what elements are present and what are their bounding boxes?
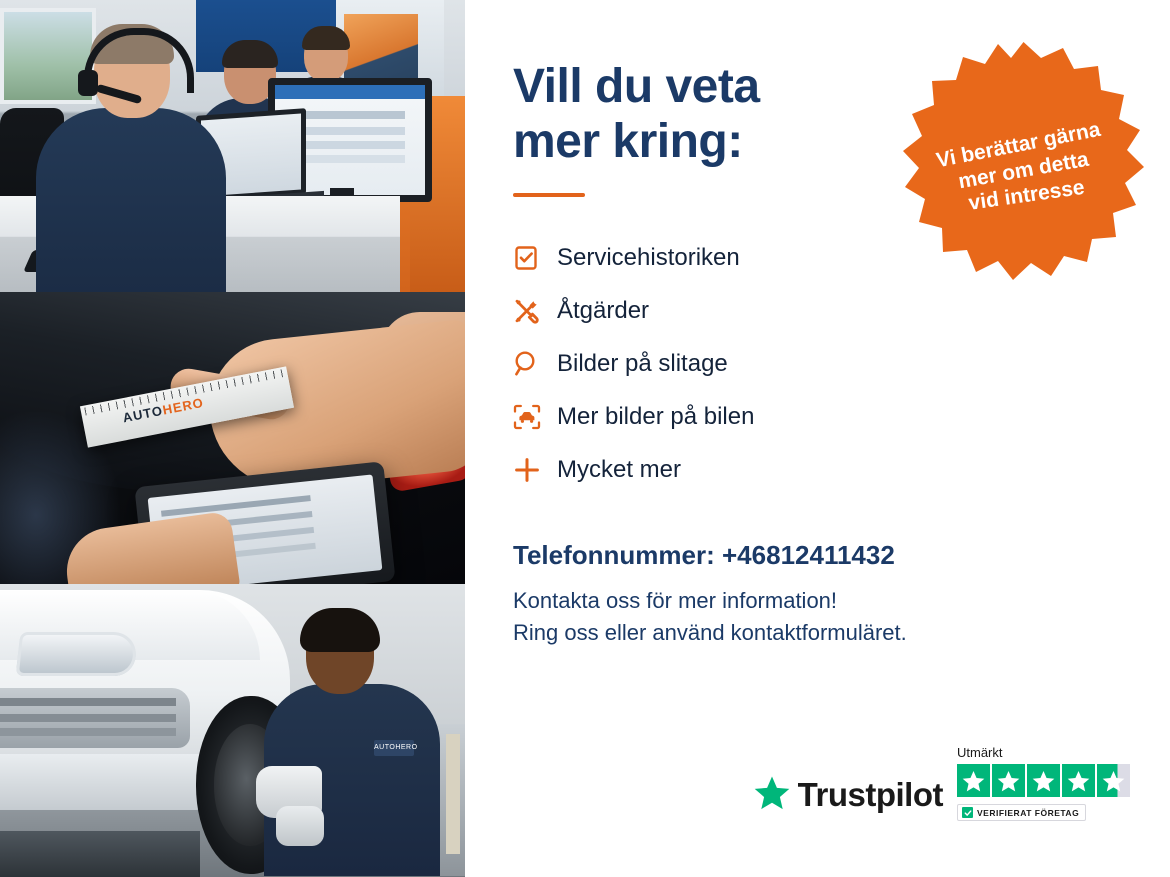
trustpilot-widget[interactable]: Trustpilot Utmärkt: [754, 745, 1130, 821]
list-item: Åtgärder: [513, 284, 1122, 337]
contact-text-line-1: Kontakta oss för mer information!: [513, 588, 837, 613]
feature-label: Servicehistoriken: [557, 244, 740, 272]
feature-label: Mycket mer: [557, 456, 681, 484]
verified-label: VERIFIERAT FÖRETAG: [977, 808, 1079, 818]
trustpilot-wordmark: Trustpilot: [798, 776, 943, 814]
magnifier-icon: [513, 350, 557, 377]
car-scan-icon: [513, 404, 557, 430]
photo-inspection-ruler: AUTOHERO: [0, 292, 465, 584]
star-filled: [1062, 764, 1095, 797]
feature-label: Bilder på slitage: [557, 350, 728, 378]
checklist-icon: [513, 245, 557, 271]
technician-glove-2: [276, 806, 324, 846]
star-filled: [957, 764, 990, 797]
car-grille: [0, 688, 190, 748]
photo-column: AUTOHERO AUTOHERO: [0, 0, 465, 877]
star-filled: [992, 764, 1025, 797]
check-icon: [962, 807, 973, 818]
trustpilot-rating-label: Utmärkt: [957, 745, 1003, 760]
call-centre-agent: [36, 22, 226, 292]
content-panel: Vill du veta mer kring: Servicehistorike…: [465, 0, 1170, 877]
feature-label: Mer bilder på bilen: [557, 403, 754, 431]
car-lift: [0, 831, 200, 877]
contact-text: Kontakta oss för mer information! Ring o…: [513, 585, 1122, 647]
promo-page: AUTOHERO AUTOHERO: [0, 0, 1170, 877]
contact-text-line-2: Ring oss eller använd kontaktformuläret.: [513, 620, 907, 645]
trustpilot-logo: Trustpilot: [754, 775, 943, 821]
uniform-badge: AUTOHERO: [374, 740, 414, 756]
callout-badge: Vi berättar gärna mer om detta vid intre…: [901, 40, 1146, 285]
phone-label: Telefonnummer:: [513, 540, 715, 570]
trustpilot-rating: Utmärkt: [957, 745, 1130, 821]
contact-block: Telefonnummer: +46812411432 Kontakta oss…: [513, 540, 1122, 647]
photo-technician-wheel: AUTOHERO: [0, 584, 465, 877]
feature-label: Åtgärder: [557, 297, 649, 325]
phone-number[interactable]: +46812411432: [722, 540, 895, 570]
verified-business-badge: VERIFIERAT FÖRETAG: [957, 804, 1086, 821]
headline-line-2: mer kring:: [513, 115, 743, 168]
phone-line: Telefonnummer: +46812411432: [513, 540, 1122, 571]
list-item: Bilder på slitage: [513, 337, 1122, 390]
star-half: [1097, 764, 1130, 797]
page-title: Vill du veta mer kring:: [513, 60, 933, 169]
star-filled: [1027, 764, 1060, 797]
photo-call-centre-agent: [0, 0, 465, 292]
burst-text: Vi berättar gärna mer om detta vid intre…: [927, 121, 1120, 220]
trustpilot-star-icon: [754, 775, 790, 815]
trustpilot-stars: [957, 764, 1130, 797]
tools-icon: [513, 297, 557, 325]
car-bumper: [0, 754, 210, 810]
list-item: Mer bilder på bilen: [513, 390, 1122, 443]
list-item: Mycket mer: [513, 443, 1122, 496]
technician: AUTOHERO: [256, 610, 446, 876]
plus-icon: [513, 456, 557, 484]
headline-line-1: Vill du veta: [513, 60, 760, 113]
car-headlight: [16, 632, 139, 676]
title-underline: [513, 193, 585, 197]
